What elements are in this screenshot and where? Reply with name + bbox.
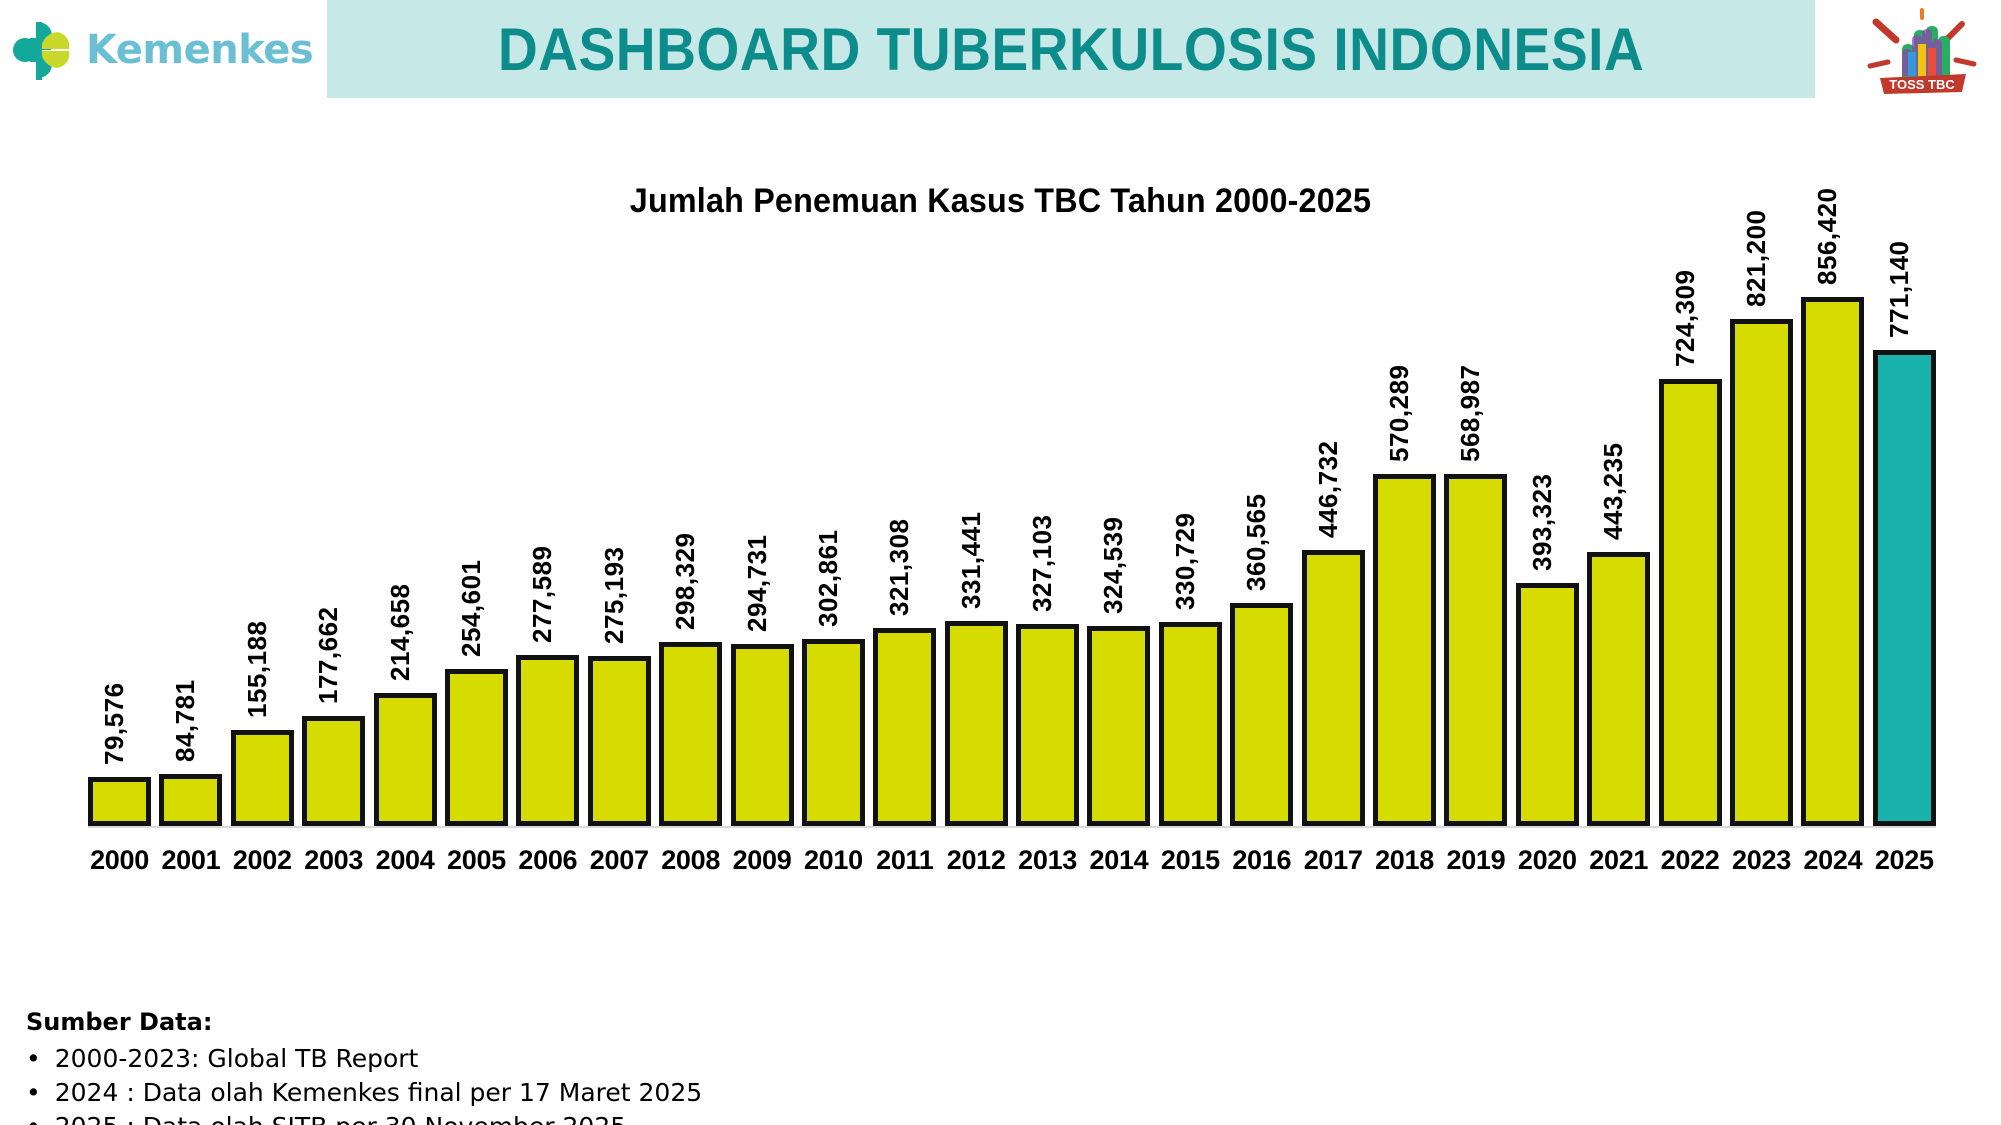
bar-value-2016: 360,565 [1241, 494, 1272, 591]
bar-slot: 294,731 [731, 270, 794, 826]
bar-value-2007: 275,193 [599, 547, 630, 644]
bar-value-2017: 446,732 [1313, 441, 1344, 538]
source-line-text: 2024 : Data olah Kemenkes final per 17 M… [55, 1076, 702, 1110]
bar-slot: 254,601 [445, 270, 508, 826]
bar-value-2022: 724,309 [1670, 270, 1701, 367]
bar-slot: 155,188 [231, 270, 294, 826]
bar-series: 79,57684,781155,188177,662214,658254,601… [88, 270, 1936, 826]
x-axis-line [88, 826, 1936, 828]
x-label-2008: 2008 [659, 845, 722, 885]
bar-value-2008: 298,329 [670, 533, 701, 630]
x-label-2013: 2013 [1016, 845, 1079, 885]
x-label-2022: 2022 [1659, 845, 1722, 885]
bar-value-2018: 570,289 [1384, 365, 1415, 462]
x-label-2019: 2019 [1444, 845, 1507, 885]
bar-value-2006: 277,589 [527, 546, 558, 643]
source-list: •2000-2023: Global TB Report•2024 : Data… [26, 1042, 1226, 1125]
bar-slot: 327,103 [1016, 270, 1079, 826]
bar-value-2001: 84,781 [170, 679, 201, 762]
x-label-2005: 2005 [445, 845, 508, 885]
bar-2016[interactable] [1230, 603, 1293, 826]
bar-2000[interactable] [88, 777, 151, 826]
bar-slot: 331,441 [945, 270, 1008, 826]
bar-slot: 321,308 [873, 270, 936, 826]
toss-tbc-hand-logo-icon: TOSS TBC [1862, 6, 1982, 98]
bar-value-2003: 177,662 [313, 607, 344, 704]
bar-2024[interactable] [1801, 297, 1864, 826]
x-axis-labels: 2000200120022003200420052006200720082009… [88, 845, 1936, 885]
bar-2008[interactable] [659, 642, 722, 826]
bar-2009[interactable] [731, 644, 794, 826]
bar-slot: 856,420 [1801, 270, 1864, 826]
bar-2025[interactable] [1873, 350, 1936, 826]
bar-2004[interactable] [374, 693, 437, 826]
bar-slot: 177,662 [302, 270, 365, 826]
bullet-icon: • [26, 1042, 41, 1076]
bar-value-2011: 321,308 [884, 519, 915, 616]
kemenkes-flower-logo-icon [8, 14, 76, 86]
bar-slot: 724,309 [1659, 270, 1722, 826]
bar-value-2025: 771,140 [1884, 241, 1915, 338]
bar-slot: 298,329 [659, 270, 722, 826]
bar-slot: 446,732 [1302, 270, 1365, 826]
bar-value-2000: 79,576 [99, 682, 130, 765]
bar-slot: 324,539 [1087, 270, 1150, 826]
x-label-2001: 2001 [159, 845, 222, 885]
bar-2012[interactable] [945, 621, 1008, 826]
source-heading: Sumber Data: [26, 1008, 1226, 1036]
bar-value-2002: 155,188 [242, 621, 273, 718]
dashboard-page: Kemenkes DASHBOARD TUBERKULOSIS INDONESI… [0, 0, 2001, 1125]
x-label-2021: 2021 [1587, 845, 1650, 885]
page-title: DASHBOARD TUBERKULOSIS INDONESIA [498, 15, 1644, 84]
bar-2005[interactable] [445, 669, 508, 826]
bar-slot: 360,565 [1230, 270, 1293, 826]
x-label-2003: 2003 [302, 845, 365, 885]
bar-slot: 214,658 [374, 270, 437, 826]
x-label-2004: 2004 [374, 845, 437, 885]
bar-slot: 277,589 [516, 270, 579, 826]
x-label-2015: 2015 [1159, 845, 1222, 885]
x-label-2024: 2024 [1801, 845, 1864, 885]
x-label-2002: 2002 [231, 845, 294, 885]
bar-slot: 84,781 [159, 270, 222, 826]
bar-value-2010: 302,861 [813, 530, 844, 627]
bar-2003[interactable] [302, 716, 365, 826]
bar-value-2020: 393,323 [1527, 474, 1558, 571]
bar-slot: 568,987 [1444, 270, 1507, 826]
x-label-2007: 2007 [588, 845, 651, 885]
bar-2019[interactable] [1444, 474, 1507, 826]
bar-2018[interactable] [1373, 474, 1436, 826]
bar-2022[interactable] [1659, 379, 1722, 826]
x-label-2000: 2000 [88, 845, 151, 885]
bar-2001[interactable] [159, 774, 222, 826]
bar-value-2014: 324,539 [1098, 517, 1129, 614]
bar-slot: 330,729 [1159, 270, 1222, 826]
bar-2023[interactable] [1730, 319, 1793, 826]
chart-plot-area: 79,57684,781155,188177,662214,658254,601… [88, 270, 1936, 826]
bar-value-2019: 568,987 [1455, 365, 1486, 462]
bar-2013[interactable] [1016, 624, 1079, 826]
kemenkes-brand: Kemenkes [8, 8, 308, 92]
x-label-2006: 2006 [516, 845, 579, 885]
bar-slot: 79,576 [88, 270, 151, 826]
bar-slot: 275,193 [588, 270, 651, 826]
source-data-footer: Sumber Data: •2000-2023: Global TB Repor… [26, 1008, 1226, 1125]
x-label-2011: 2011 [873, 845, 936, 885]
bar-2020[interactable] [1516, 583, 1579, 826]
brand-name-label: Kemenkes [86, 30, 313, 70]
x-label-2017: 2017 [1302, 845, 1365, 885]
x-label-2023: 2023 [1730, 845, 1793, 885]
bar-2006[interactable] [516, 655, 579, 826]
source-line-text: 2025 : Data olah SITB per 30 November 20… [55, 1110, 626, 1125]
page-header: Kemenkes DASHBOARD TUBERKULOSIS INDONESI… [0, 0, 2001, 100]
bar-2010[interactable] [802, 639, 865, 826]
title-banner: DASHBOARD TUBERKULOSIS INDONESIA [327, 0, 1815, 98]
bullet-icon: • [26, 1110, 41, 1125]
bar-value-2009: 294,731 [742, 535, 773, 632]
bar-value-2012: 331,441 [956, 512, 987, 609]
bar-value-2013: 327,103 [1027, 515, 1058, 612]
bar-2015[interactable] [1159, 622, 1222, 826]
x-label-2016: 2016 [1230, 845, 1293, 885]
toss-tbc-label: TOSS TBC [1889, 77, 1955, 92]
source-line: •2000-2023: Global TB Report [26, 1042, 1226, 1076]
bar-value-2023: 821,200 [1741, 210, 1772, 307]
source-line: •2024 : Data olah Kemenkes final per 17 … [26, 1076, 1226, 1110]
bar-2011[interactable] [873, 628, 936, 826]
bar-2021[interactable] [1587, 552, 1650, 826]
bar-value-2021: 443,235 [1598, 443, 1629, 540]
source-line-text: 2000-2023: Global TB Report [55, 1042, 419, 1076]
source-line: •2025 : Data olah SITB per 30 November 2… [26, 1110, 1226, 1125]
chart-title: Jumlah Penemuan Kasus TBC Tahun 2000-202… [50, 182, 1951, 221]
bullet-icon: • [26, 1076, 41, 1110]
bar-value-2005: 254,601 [456, 560, 487, 657]
bar-value-2024: 856,420 [1812, 188, 1843, 285]
bar-2002[interactable] [231, 730, 294, 826]
bar-slot: 570,289 [1373, 270, 1436, 826]
bar-value-2004: 214,658 [385, 584, 416, 681]
bar-value-2015: 330,729 [1170, 513, 1201, 610]
x-label-2009: 2009 [731, 845, 794, 885]
bar-2007[interactable] [588, 656, 651, 826]
x-label-2014: 2014 [1087, 845, 1150, 885]
bar-2014[interactable] [1087, 626, 1150, 826]
x-label-2025: 2025 [1873, 845, 1936, 885]
bar-slot: 771,140 [1873, 270, 1936, 826]
x-label-2020: 2020 [1516, 845, 1579, 885]
bar-slot: 393,323 [1516, 270, 1579, 826]
bar-slot: 821,200 [1730, 270, 1793, 826]
bar-slot: 302,861 [802, 270, 865, 826]
x-label-2012: 2012 [945, 845, 1008, 885]
x-label-2018: 2018 [1373, 845, 1436, 885]
bar-slot: 443,235 [1587, 270, 1650, 826]
bar-2017[interactable] [1302, 550, 1365, 826]
x-label-2010: 2010 [802, 845, 865, 885]
